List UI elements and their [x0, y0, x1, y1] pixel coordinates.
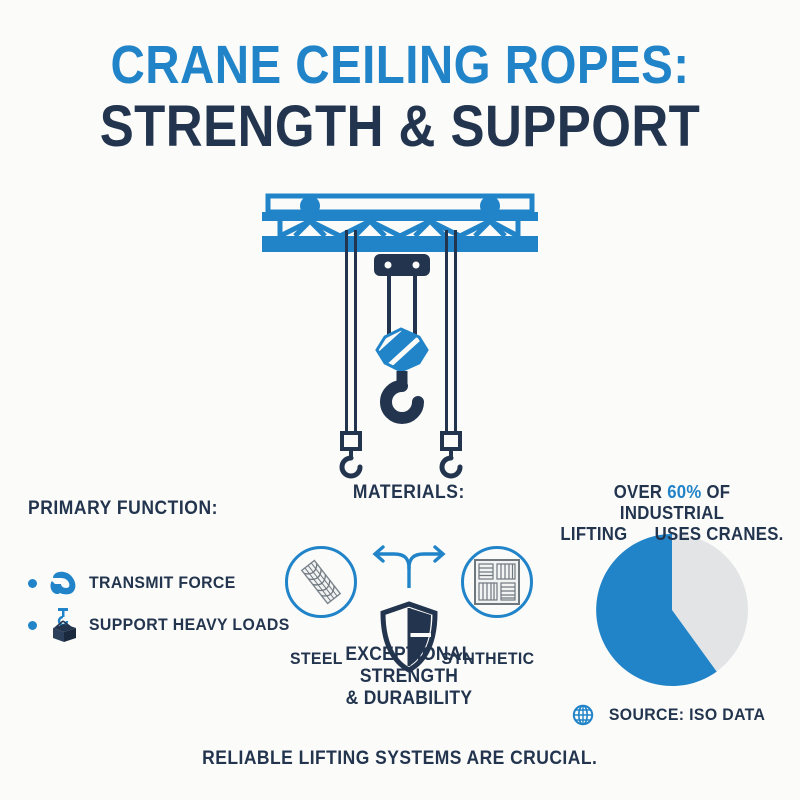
- material-option-synthetic: [461, 546, 533, 618]
- globe-icon: [572, 704, 594, 726]
- pie-chart: [592, 530, 752, 690]
- bullet-dot-icon: [28, 579, 37, 588]
- bullet-dot-icon: [28, 621, 37, 630]
- overhead-crane-icon: [250, 190, 550, 480]
- pie-chart-svg: [592, 530, 752, 690]
- title-line-secondary: STRENGTH & SUPPORT: [48, 98, 752, 156]
- materials-caption-line: STRENGTH: [288, 666, 529, 688]
- page-title: CRANE CEILING ROPES: STRENGTH & SUPPORT: [0, 38, 800, 156]
- statistic-headline-line2: LIFTING USES CRANES.: [560, 524, 783, 545]
- source-label: SOURCE: ISO DATA: [609, 705, 765, 725]
- statistic-section: OVER 60% OF INDUSTRIAL LIFTING USES CRAN…: [552, 482, 792, 726]
- list-item-label: TRANSMIT FORCE: [89, 573, 236, 593]
- materials-caption: EXCEPTIONAL STRENGTH & DURABILITY: [278, 644, 540, 711]
- list-item: SUPPORT HEAVY LOADS: [28, 604, 288, 646]
- materials-caption-line: & DURABILITY: [288, 688, 529, 710]
- materials-heading: MATERIALS:: [353, 482, 465, 504]
- statistic-highlight-value: 60%: [667, 482, 701, 502]
- materials-section: MATERIALS:: [278, 482, 540, 656]
- statistic-headline-line1: OVER 60% OF INDUSTRIAL: [560, 482, 783, 524]
- crane-illustration: [250, 190, 550, 480]
- primary-function-section: PRIMARY FUNCTION: TRANSMIT FORCE: [28, 498, 288, 646]
- flexed-bicep-icon: [48, 566, 80, 600]
- list-item-label: SUPPORT HEAVY LOADS: [89, 615, 290, 635]
- woven-fiber-icon: [471, 556, 523, 608]
- infographic-canvas: CRANE CEILING ROPES: STRENGTH & SUPPORT: [0, 0, 800, 800]
- primary-function-heading: PRIMARY FUNCTION:: [28, 498, 267, 520]
- materials-options: STEEL: [278, 516, 540, 656]
- statistic-headline-right: USES CRANES.: [655, 524, 784, 545]
- list-item: TRANSMIT FORCE: [28, 562, 288, 604]
- statistic-headline-left: LIFTING: [560, 524, 627, 545]
- crane-hook-load-icon: [48, 608, 80, 642]
- split-arrow-icon: [366, 544, 452, 588]
- source-row: SOURCE: ISO DATA: [552, 704, 792, 726]
- statistic-headline: OVER 60% OF INDUSTRIAL LIFTING USES CRAN…: [552, 482, 792, 546]
- footer-tagline: RELIABLE LIFTING SYSTEMS ARE CRUCIAL.: [0, 748, 800, 770]
- footer-tagline-text: RELIABLE LIFTING SYSTEMS ARE CRUCIAL.: [202, 748, 597, 770]
- materials-caption-line: EXCEPTIONAL: [288, 644, 529, 666]
- steel-wire-rope-icon: [294, 555, 348, 609]
- primary-function-list: TRANSMIT FORCE SUPPORT HEAVY LOADS: [28, 562, 288, 646]
- material-option-steel: [285, 546, 357, 618]
- statistic-headline-pre: OVER: [614, 482, 667, 502]
- title-line-primary: CRANE CEILING ROPES:: [48, 38, 752, 92]
